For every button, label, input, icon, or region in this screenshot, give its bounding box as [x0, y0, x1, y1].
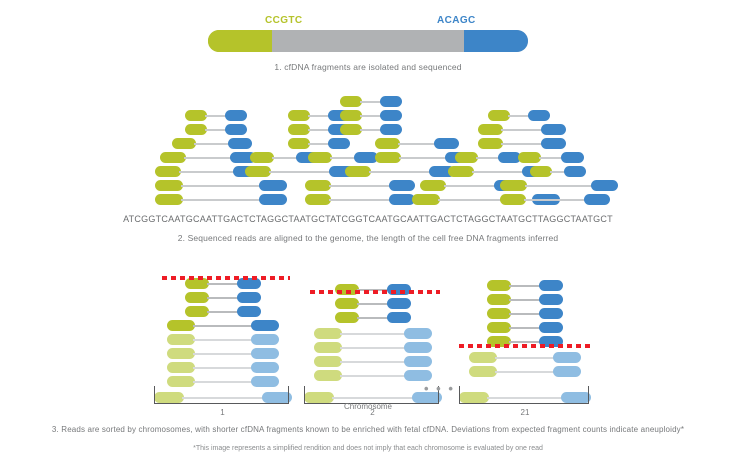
read-blue-end: [541, 138, 566, 149]
sequenced-read: [172, 138, 252, 149]
read-green-end: [305, 180, 331, 191]
read-connector: [193, 325, 253, 328]
read-connector: [495, 371, 555, 374]
read-green-end: [530, 166, 552, 177]
read-green-end: [487, 322, 511, 333]
read-connector: [207, 283, 239, 286]
sequenced-read: [305, 194, 415, 205]
read-green-end: [155, 166, 181, 177]
read-green-end: [167, 362, 195, 373]
read-green-end: [488, 110, 510, 121]
read-connector: [308, 115, 330, 118]
chromosome-read: [314, 328, 432, 339]
read-connector: [340, 333, 406, 336]
sequenced-read: [288, 138, 350, 149]
read-blue-end: [539, 294, 563, 305]
read-blue-end: [225, 124, 247, 135]
read-green-end: [314, 328, 342, 339]
cfdna-fragment-bar: [208, 30, 528, 52]
sequenced-read: [245, 166, 355, 177]
read-green-end: [314, 370, 342, 381]
read-green-end: [185, 124, 207, 135]
read-connector: [181, 199, 261, 202]
chromosome-read: [167, 348, 279, 359]
read-blue-end: [389, 180, 415, 191]
chromosome-read: [314, 356, 432, 367]
read-connector: [525, 185, 593, 188]
figure-canvas: CCGTC ACAGC 1. cfDNA fragments are isola…: [0, 0, 736, 475]
read-connector: [205, 115, 227, 118]
read-green-end: [167, 334, 195, 345]
chromosome-read: [185, 306, 261, 317]
read-connector: [308, 143, 330, 146]
chromosome-read: [469, 352, 581, 363]
sequenced-read: [185, 110, 247, 121]
sequenced-read: [155, 166, 259, 177]
panel-chromosome-sorting: 1221 • • • Chromosome 3. Reads are sorte…: [0, 268, 736, 418]
read-green-end: [448, 166, 474, 177]
sequenced-read: [478, 124, 566, 135]
chromosome-read: [314, 370, 432, 381]
chromosome-read: [487, 294, 563, 305]
read-connector: [509, 313, 541, 316]
read-connector: [340, 361, 406, 364]
read-green-end: [308, 152, 332, 163]
read-blue-end: [380, 124, 402, 135]
read-blue-end: [434, 138, 459, 149]
read-blue-end: [380, 96, 402, 107]
read-connector: [193, 381, 253, 384]
read-green-end: [167, 320, 195, 331]
read-green-end: [335, 312, 359, 323]
read-blue-end: [404, 370, 432, 381]
read-green-end: [420, 180, 446, 191]
read-connector: [308, 129, 330, 132]
threshold-dashed-line: [162, 276, 290, 280]
chromosome-read: [487, 308, 563, 319]
read-green-end: [487, 280, 511, 291]
read-connector: [360, 115, 382, 118]
read-pile: [0, 96, 736, 214]
sequenced-read: [340, 96, 402, 107]
figure-footnote: *This image represents a simplified rend…: [0, 445, 736, 452]
chromosome-read: [167, 320, 279, 331]
read-green-end: [455, 152, 478, 163]
read-green-end: [518, 152, 541, 163]
read-connector: [509, 285, 541, 288]
read-connector: [329, 199, 391, 202]
sequenced-read: [500, 180, 618, 191]
read-connector: [340, 375, 406, 378]
read-blue-end: [404, 342, 432, 353]
read-connector: [360, 101, 382, 104]
threshold-dashed-line: [310, 290, 440, 294]
read-connector: [205, 129, 227, 132]
read-connector: [501, 129, 543, 132]
read-blue-end: [528, 110, 550, 121]
reference-genome-sequence: ATCGGTCAATGCAATTGACTCTAGGCTAATGCTATCGGTC…: [0, 214, 736, 224]
chromosome-read: [487, 322, 563, 333]
sequenced-read: [308, 152, 378, 163]
read-blue-end: [259, 180, 287, 191]
axis-title-chromosome: Chromosome: [0, 402, 736, 411]
sequence-tag-left: CCGTC: [265, 15, 303, 26]
chromosome-read: [335, 312, 411, 323]
read-green-end: [155, 194, 183, 205]
sequence-tag-right: ACAGC: [437, 15, 476, 26]
read-connector: [357, 317, 389, 320]
read-connector: [340, 347, 406, 350]
read-blue-end: [539, 280, 563, 291]
read-green-end: [478, 138, 503, 149]
sequenced-read: [155, 180, 287, 191]
read-green-end: [185, 110, 207, 121]
chromosome-read: [314, 342, 432, 353]
read-connector: [179, 171, 235, 174]
read-connector: [495, 357, 555, 360]
read-connector: [207, 297, 239, 300]
sequenced-read: [488, 110, 550, 121]
read-connector: [369, 171, 431, 174]
read-connector: [476, 157, 500, 160]
read-connector: [508, 115, 530, 118]
panel3-caption: 3. Reads are sorted by chromosomes, with…: [0, 425, 736, 434]
read-green-end: [160, 152, 186, 163]
read-blue-end: [404, 356, 432, 367]
chromosome-read: [167, 334, 279, 345]
read-green-end: [500, 180, 527, 191]
read-connector: [194, 143, 230, 146]
read-blue-end: [251, 348, 279, 359]
read-green-end: [340, 124, 362, 135]
sequenced-read: [305, 180, 415, 191]
read-blue-end: [553, 352, 581, 363]
read-connector: [539, 157, 563, 160]
read-connector: [509, 341, 541, 344]
read-green-end: [288, 138, 310, 149]
read-green-end: [185, 292, 209, 303]
read-connector: [524, 199, 586, 202]
sequenced-read: [478, 138, 566, 149]
sequenced-read: [160, 152, 256, 163]
read-green-end: [487, 294, 511, 305]
read-connector: [357, 303, 389, 306]
fragment-blue-end: [464, 30, 528, 52]
sequenced-read: [500, 194, 610, 205]
read-green-end: [245, 166, 271, 177]
read-connector: [360, 129, 382, 132]
read-green-end: [375, 138, 400, 149]
read-connector: [184, 157, 232, 160]
read-blue-end: [591, 180, 618, 191]
read-green-end: [155, 180, 183, 191]
read-green-end: [305, 194, 331, 205]
read-green-end: [500, 194, 526, 205]
sequenced-read: [518, 152, 584, 163]
sequenced-read: [455, 152, 521, 163]
read-blue-end: [259, 194, 287, 205]
sequenced-read: [530, 166, 586, 177]
panel2-caption: 2. Sequenced reads are aligned to the ge…: [0, 233, 736, 243]
read-connector: [272, 157, 298, 160]
read-connector: [501, 143, 543, 146]
read-connector: [329, 185, 391, 188]
read-connector: [269, 171, 331, 174]
read-green-end: [314, 356, 342, 367]
read-green-end: [167, 348, 195, 359]
read-blue-end: [404, 328, 432, 339]
panel1-caption: 1. cfDNA fragments are isolated and sequ…: [0, 62, 736, 72]
read-blue-end: [561, 152, 584, 163]
sequenced-read: [375, 138, 459, 149]
read-blue-end: [225, 110, 247, 121]
read-blue-end: [564, 166, 586, 177]
read-blue-end: [539, 322, 563, 333]
read-blue-end: [237, 292, 261, 303]
read-connector: [509, 327, 541, 330]
read-blue-end: [380, 110, 402, 121]
sequenced-read: [340, 124, 402, 135]
read-blue-end: [328, 138, 350, 149]
read-green-end: [172, 138, 196, 149]
read-green-end: [340, 110, 362, 121]
chromosome-read: [487, 280, 563, 291]
threshold-dashed-line: [459, 344, 591, 348]
read-green-end: [288, 110, 310, 121]
read-connector: [193, 367, 253, 370]
read-green-end: [340, 96, 362, 107]
read-green-end: [250, 152, 274, 163]
fragment-green-end: [208, 30, 272, 52]
chromosome-read: [185, 292, 261, 303]
read-connector: [472, 171, 524, 174]
read-blue-end: [251, 362, 279, 373]
ellipsis-separator: • • •: [424, 382, 455, 395]
read-green-end: [185, 306, 209, 317]
read-blue-end: [228, 138, 252, 149]
read-blue-end: [539, 308, 563, 319]
sequenced-read: [340, 110, 402, 121]
chromosome-read: [469, 366, 581, 377]
read-blue-end: [237, 306, 261, 317]
sequenced-read: [155, 194, 287, 205]
read-green-end: [412, 194, 440, 205]
panel-cfdna-fragment: CCGTC ACAGC 1. cfDNA fragments are isola…: [0, 0, 736, 84]
read-green-end: [469, 352, 497, 363]
read-green-end: [335, 298, 359, 309]
read-connector: [207, 311, 239, 314]
chromosome-read: [335, 298, 411, 309]
read-connector: [330, 157, 356, 160]
read-blue-end: [251, 320, 279, 331]
sequenced-read: [185, 124, 247, 135]
read-connector: [193, 353, 253, 356]
read-connector: [398, 143, 436, 146]
panel-aligned-reads: ATCGGTCAATGCAATTGACTCTAGGCTAATGCTATCGGTC…: [0, 96, 736, 246]
read-green-end: [314, 342, 342, 353]
read-green-end: [375, 152, 401, 163]
sequenced-read: [345, 166, 455, 177]
read-green-end: [469, 366, 497, 377]
read-blue-end: [387, 298, 411, 309]
read-blue-end: [541, 124, 566, 135]
read-green-end: [487, 308, 511, 319]
read-connector: [193, 339, 253, 342]
read-blue-end: [251, 334, 279, 345]
read-green-end: [345, 166, 371, 177]
read-green-end: [478, 124, 503, 135]
read-green-end: [288, 124, 310, 135]
read-connector: [181, 185, 261, 188]
read-connector: [399, 157, 447, 160]
read-blue-end: [584, 194, 610, 205]
read-blue-end: [553, 366, 581, 377]
read-connector: [444, 185, 496, 188]
chromosome-read: [167, 362, 279, 373]
read-connector: [509, 299, 541, 302]
read-blue-end: [387, 312, 411, 323]
